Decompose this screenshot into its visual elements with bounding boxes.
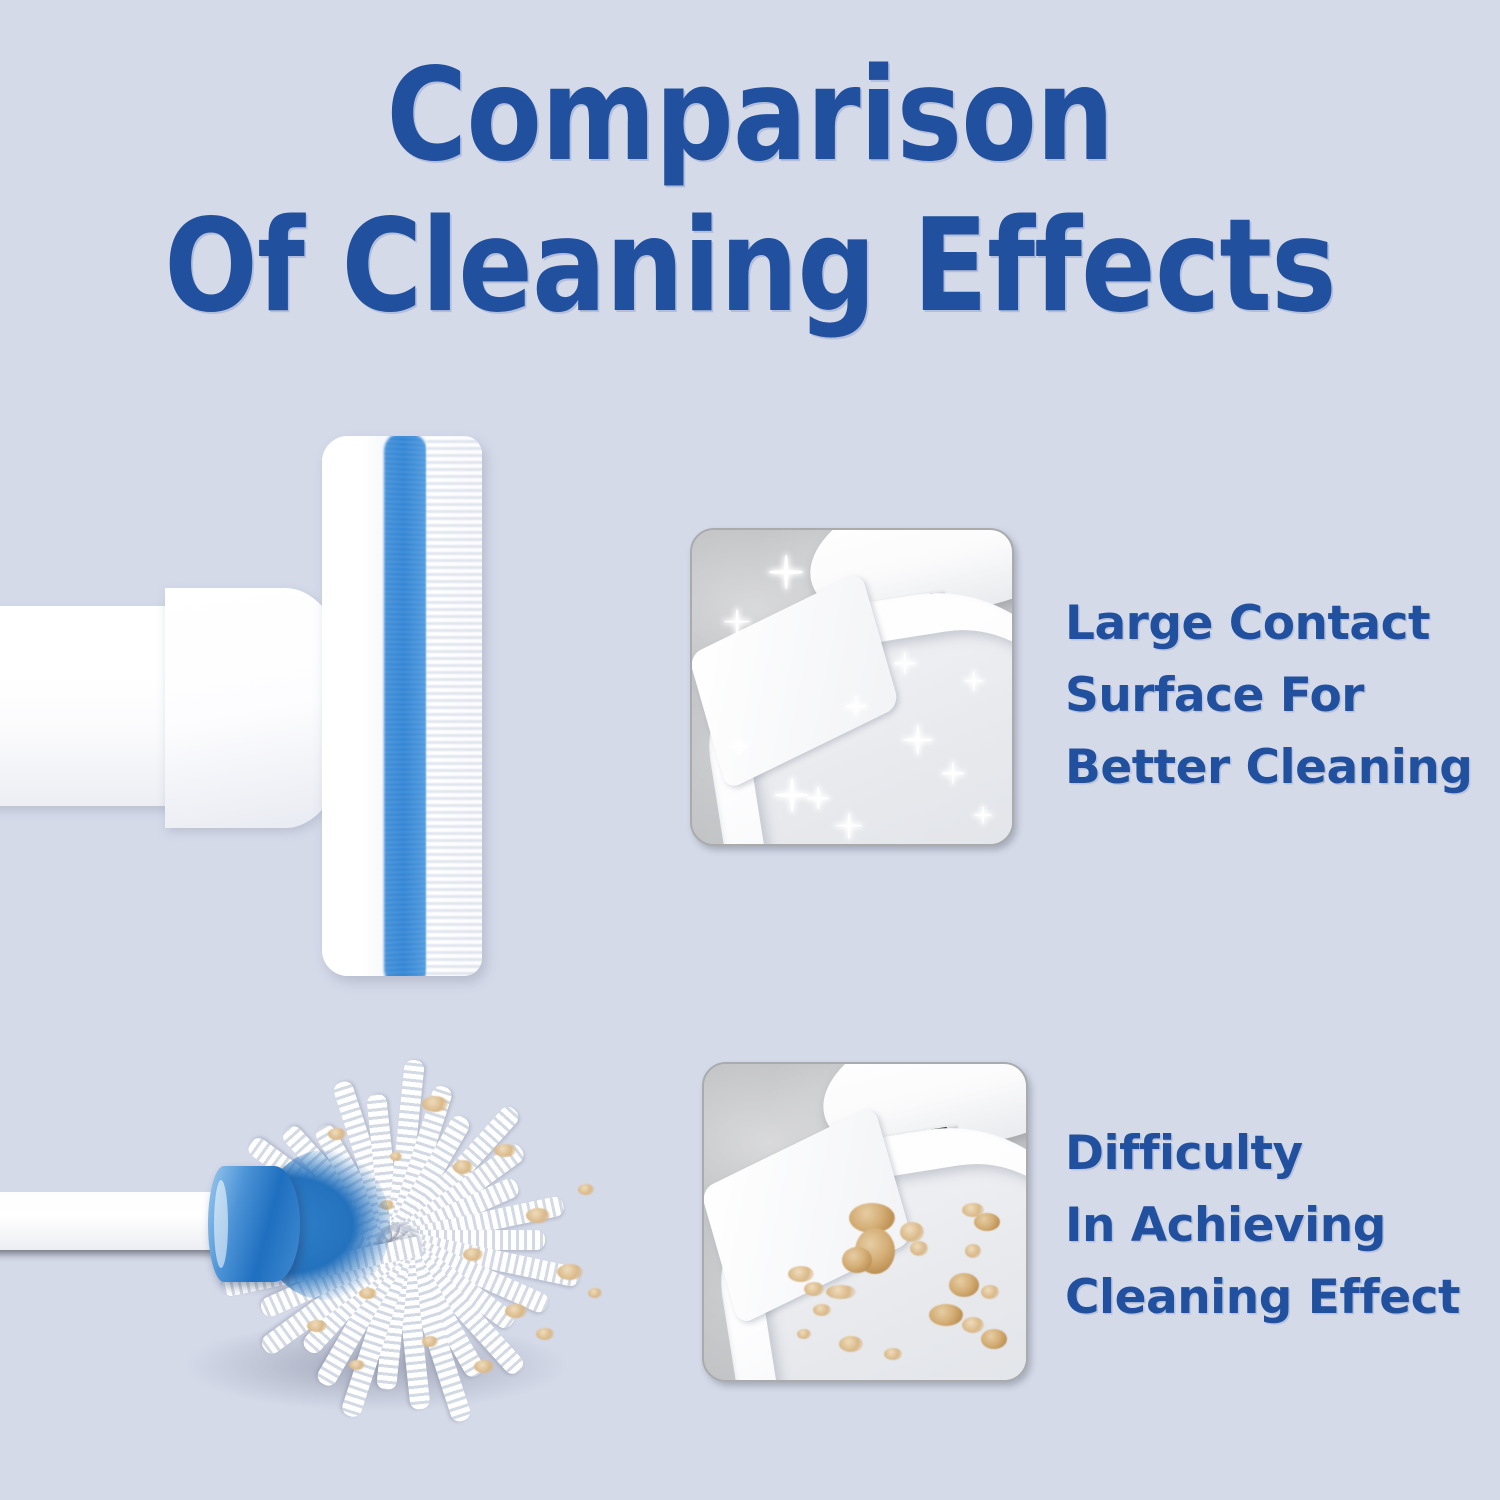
- dirt-stain: [965, 1244, 981, 1258]
- sponge-toilet-brush-image: [0, 420, 580, 1000]
- sponge-pad-foam-layer: [426, 436, 482, 976]
- brush-blue-collar: [208, 1166, 300, 1282]
- traditional-round-brush-image: [0, 1020, 650, 1440]
- sponge-pad-white-layer: [322, 436, 388, 976]
- page-title: Comparison Of Cleaning Effects: [0, 40, 1500, 342]
- dirt-stain: [788, 1266, 814, 1282]
- caption-difficulty-cleaning: Difficulty In Achieving Cleaning Effect: [1065, 1118, 1460, 1334]
- caption-large-contact-surface: Large Contact Surface For Better Cleanin…: [1065, 588, 1472, 804]
- infographic-canvas: Comparison Of Cleaning Effects L: [0, 0, 1500, 1500]
- dirt-stain: [949, 1273, 979, 1297]
- dirt-stain: [804, 1282, 824, 1296]
- caption-bad-line-2: In Achieving: [1065, 1190, 1460, 1262]
- dirt-stain: [910, 1241, 928, 1256]
- brush-dirt-fleck: [474, 1360, 494, 1373]
- sponge-brush-pad: [322, 436, 482, 976]
- caption-good-line-2: Surface For: [1065, 660, 1472, 732]
- brush-dirt-fleck: [453, 1160, 473, 1174]
- dirt-stain: [974, 1213, 1000, 1231]
- caption-good-line-1: Large Contact: [1065, 588, 1472, 660]
- clean-toilet-photo: [690, 528, 1014, 846]
- brush-dirt-fleck: [422, 1096, 448, 1112]
- caption-good-line-3: Better Cleaning: [1065, 732, 1472, 804]
- caption-bad-line-3: Cleaning Effect: [1065, 1262, 1460, 1334]
- brush-dirt-fleck: [526, 1208, 550, 1223]
- brush-dirt-fleck: [557, 1264, 583, 1280]
- brush-dirt-fleck: [328, 1128, 346, 1140]
- title-line-1: Comparison: [105, 40, 1395, 191]
- brush-dirt-fleck: [578, 1184, 594, 1195]
- brush-dirt-fleck: [349, 1360, 365, 1370]
- brush-dirt-fleck: [422, 1336, 438, 1347]
- dirt-stain: [962, 1317, 984, 1333]
- sponge-pad-blue-stripe: [384, 436, 428, 976]
- dirty-toilet-photo: [702, 1062, 1028, 1382]
- brush-dirt-fleck: [588, 1288, 602, 1298]
- dirt-stain: [839, 1336, 863, 1352]
- title-line-2: Of Cleaning Effects: [105, 191, 1395, 342]
- brush-dirt-fleck: [536, 1328, 554, 1340]
- caption-bad-line-1: Difficulty: [1065, 1118, 1460, 1190]
- brush-dirt-fleck: [505, 1304, 527, 1318]
